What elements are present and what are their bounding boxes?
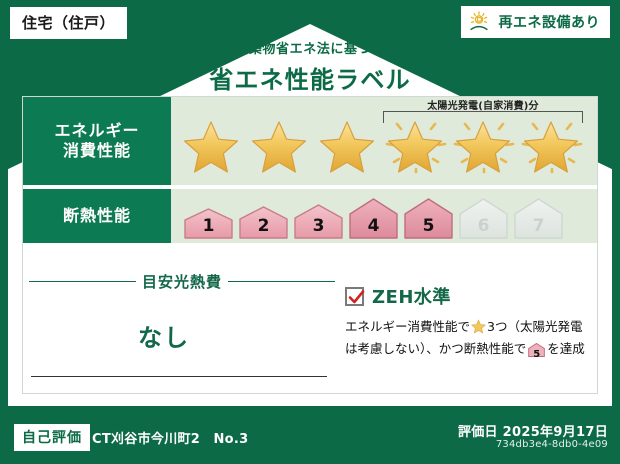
- insulation-level-7: 7: [513, 198, 564, 239]
- page-title: 省エネ性能ラベル: [0, 60, 620, 95]
- star-filled: [247, 114, 313, 176]
- zeh-desc-part1: エネルギー消費性能で: [345, 319, 470, 334]
- evaluation-id: 734db3e4-8db0-4e09: [496, 439, 608, 450]
- energy-label-line1: エネルギー: [54, 121, 139, 141]
- insulation-level-value: 4: [348, 216, 399, 236]
- energy-consumption-row: エネルギー 消費性能 太陽光発電(自家消費)分: [23, 97, 597, 185]
- insulation-level-value: 2: [238, 216, 289, 236]
- energy-rating-body: 太陽光発電(自家消費)分: [171, 97, 597, 185]
- heading-rule-right: [228, 281, 335, 282]
- utility-cost-heading-text: 目安光熱費: [142, 271, 222, 292]
- inline-badge-value: 5: [528, 347, 545, 363]
- energy-consumption-label: エネルギー 消費性能: [23, 97, 171, 185]
- zeh-desc-part3: を達成: [547, 341, 585, 356]
- inline-star-icon: [471, 319, 486, 339]
- assessment-type-badge: 自己評価: [14, 424, 90, 451]
- insulation-level-5: 5: [403, 198, 454, 239]
- insulation-label: 断熱性能: [23, 189, 171, 243]
- energy-star-rating: [179, 114, 585, 176]
- utility-cost-underline: [31, 376, 327, 377]
- insulation-level-1: 1: [183, 208, 234, 239]
- check-icon: [348, 289, 365, 306]
- energy-label-line2: 消費性能: [63, 141, 131, 161]
- sun-solar-icon: [469, 11, 493, 33]
- star-solar: [451, 114, 517, 176]
- label-bottom-area: 目安光熱費 なし ZEH水準 エネルギー消費性能で3つ（太陽光発電は考慮しな: [23, 259, 599, 395]
- zeh-checkbox[interactable]: [345, 287, 364, 306]
- insulation-level-6: 6: [458, 198, 509, 239]
- star-solar: [519, 114, 585, 176]
- renewable-badge-label: 再エネ設備あり: [499, 12, 601, 32]
- insulation-level-value: 6: [458, 216, 509, 236]
- insulation-level-value: 5: [403, 216, 454, 236]
- label-content-frame: エネルギー 消費性能 太陽光発電(自家消費)分: [22, 96, 598, 394]
- insulation-level-3: 3: [293, 204, 344, 239]
- zeh-section: ZEH水準 エネルギー消費性能で3つ（太陽光発電は考慮しない）、かつ断熱性能で5…: [335, 259, 599, 395]
- zeh-desc-star-count: 3つ（太陽光発電: [487, 319, 582, 334]
- zeh-heading: ZEH水準: [345, 283, 599, 309]
- insulation-rating-body: 1 2 3: [171, 189, 597, 243]
- inline-insulation-badge: 5: [528, 343, 545, 362]
- star-filled: [315, 114, 381, 176]
- label-title-block: 建築物省エネ法に基づく 省エネ性能ラベル: [0, 38, 620, 95]
- utility-cost-value: なし: [29, 318, 335, 353]
- insulation-level-value: 1: [183, 216, 234, 236]
- zeh-desc-part2: は考慮しない）、かつ断熱性能で: [345, 341, 526, 356]
- insulation-level-value: 3: [293, 216, 344, 236]
- insulation-level-4: 4: [348, 198, 399, 239]
- title-subtitle: 建築物省エネ法に基づく: [0, 38, 620, 57]
- utility-cost-heading: 目安光熱費: [29, 271, 335, 292]
- star-solar: [383, 114, 449, 176]
- evaluation-date: 評価日 2025年9月17日: [458, 421, 608, 440]
- renewable-energy-badge: 再エネ設備あり: [461, 6, 611, 38]
- zeh-description: エネルギー消費性能で3つ（太陽光発電は考慮しない）、かつ断熱性能で5を達成: [345, 317, 599, 363]
- building-type-tag: 住宅（住戸）: [10, 7, 127, 39]
- energy-performance-label: 住宅（住戸） 再エネ設備あり 建築物省エネ法: [0, 0, 620, 464]
- insulation-level-value: 7: [513, 216, 564, 236]
- label-footer: 自己評価 CT刈谷市今川町2 No.3 評価日 2025年9月17日 734db…: [0, 414, 620, 464]
- star-filled: [179, 114, 245, 176]
- heading-rule-left: [29, 281, 136, 282]
- solar-bracket-label: 太陽光発電(自家消費)分: [383, 97, 583, 112]
- utility-cost-section: 目安光熱費 なし: [23, 259, 335, 395]
- insulation-level-2: 2: [238, 206, 289, 239]
- insulation-level-scale: 1 2 3: [183, 189, 564, 243]
- insulation-performance-row: 断熱性能 1: [23, 189, 597, 243]
- property-address: CT刈谷市今川町2 No.3: [92, 428, 248, 447]
- zeh-title: ZEH水準: [372, 283, 451, 309]
